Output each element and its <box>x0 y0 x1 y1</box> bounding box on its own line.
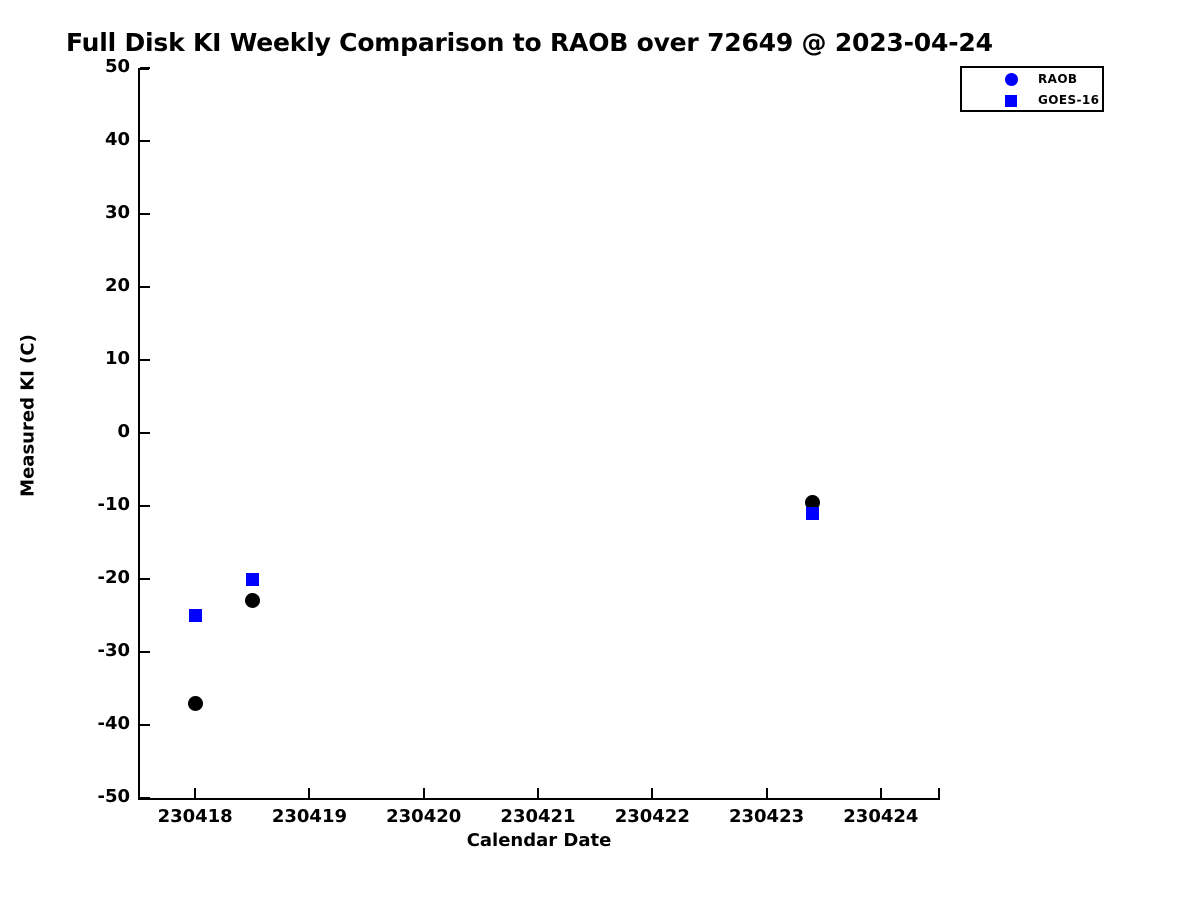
data-point-goes-16 <box>246 573 259 586</box>
x-tick-230423 <box>766 788 768 798</box>
data-point-goes-16 <box>189 609 202 622</box>
x-tick-230424 <box>880 788 882 798</box>
y-tick-10 <box>140 359 150 361</box>
x-tick-label-230424: 230424 <box>811 806 951 827</box>
y-tick--20 <box>140 578 150 580</box>
data-point-raob <box>188 696 203 711</box>
data-point-goes-16 <box>806 507 819 520</box>
chart-title: Full Disk KI Weekly Comparison to RAOB o… <box>66 28 1066 57</box>
y-tick-label-30: 30 <box>60 202 130 223</box>
legend-label: RAOB <box>1038 72 1077 86</box>
y-tick--10 <box>140 505 150 507</box>
y-tick-label-40: 40 <box>60 129 130 150</box>
y-tick-label-10: 10 <box>60 348 130 369</box>
y-tick-label--10: -10 <box>60 494 130 515</box>
x-tick-230419 <box>308 788 310 798</box>
data-point-raob <box>245 593 260 608</box>
y-tick-50 <box>140 67 150 69</box>
y-tick-label-20: 20 <box>60 275 130 296</box>
y-tick-label--20: -20 <box>60 567 130 588</box>
bottom-right-corner-tick <box>938 788 940 799</box>
y-tick-label--40: -40 <box>60 713 130 734</box>
x-axis-spine <box>138 798 940 800</box>
x-tick-230420 <box>423 788 425 798</box>
x-axis-title: Calendar Date <box>138 830 940 851</box>
x-tick-230418 <box>194 788 196 798</box>
y-axis-title: Measured KI (C) <box>18 266 39 566</box>
chart-legend: RAOBGOES-16 <box>960 66 1104 112</box>
y-tick-label-50: 50 <box>60 56 130 77</box>
y-tick-label--30: -30 <box>60 640 130 661</box>
legend-swatch <box>1005 95 1017 107</box>
y-tick-20 <box>140 286 150 288</box>
y-tick-0 <box>140 432 150 434</box>
legend-marker-square-icon <box>1002 90 1020 111</box>
legend-label: GOES-16 <box>1038 93 1099 107</box>
legend-item-goes-16[interactable]: GOES-16 <box>962 90 1102 111</box>
y-tick--40 <box>140 724 150 726</box>
y-tick-30 <box>140 213 150 215</box>
y-tick-label-0: 0 <box>60 421 130 442</box>
y-tick-40 <box>140 140 150 142</box>
legend-item-raob[interactable]: RAOB <box>962 69 1102 90</box>
y-tick--30 <box>140 651 150 653</box>
y-tick-label--50: -50 <box>60 786 130 807</box>
legend-marker-circle-icon <box>1002 69 1020 90</box>
x-tick-230422 <box>651 788 653 798</box>
x-tick-230421 <box>537 788 539 798</box>
y-axis-spine <box>138 68 140 800</box>
y-tick--50 <box>140 797 150 799</box>
legend-swatch <box>1005 73 1018 86</box>
plot-area <box>138 68 940 800</box>
chart-figure: Full Disk KI Weekly Comparison to RAOB o… <box>0 0 1200 900</box>
